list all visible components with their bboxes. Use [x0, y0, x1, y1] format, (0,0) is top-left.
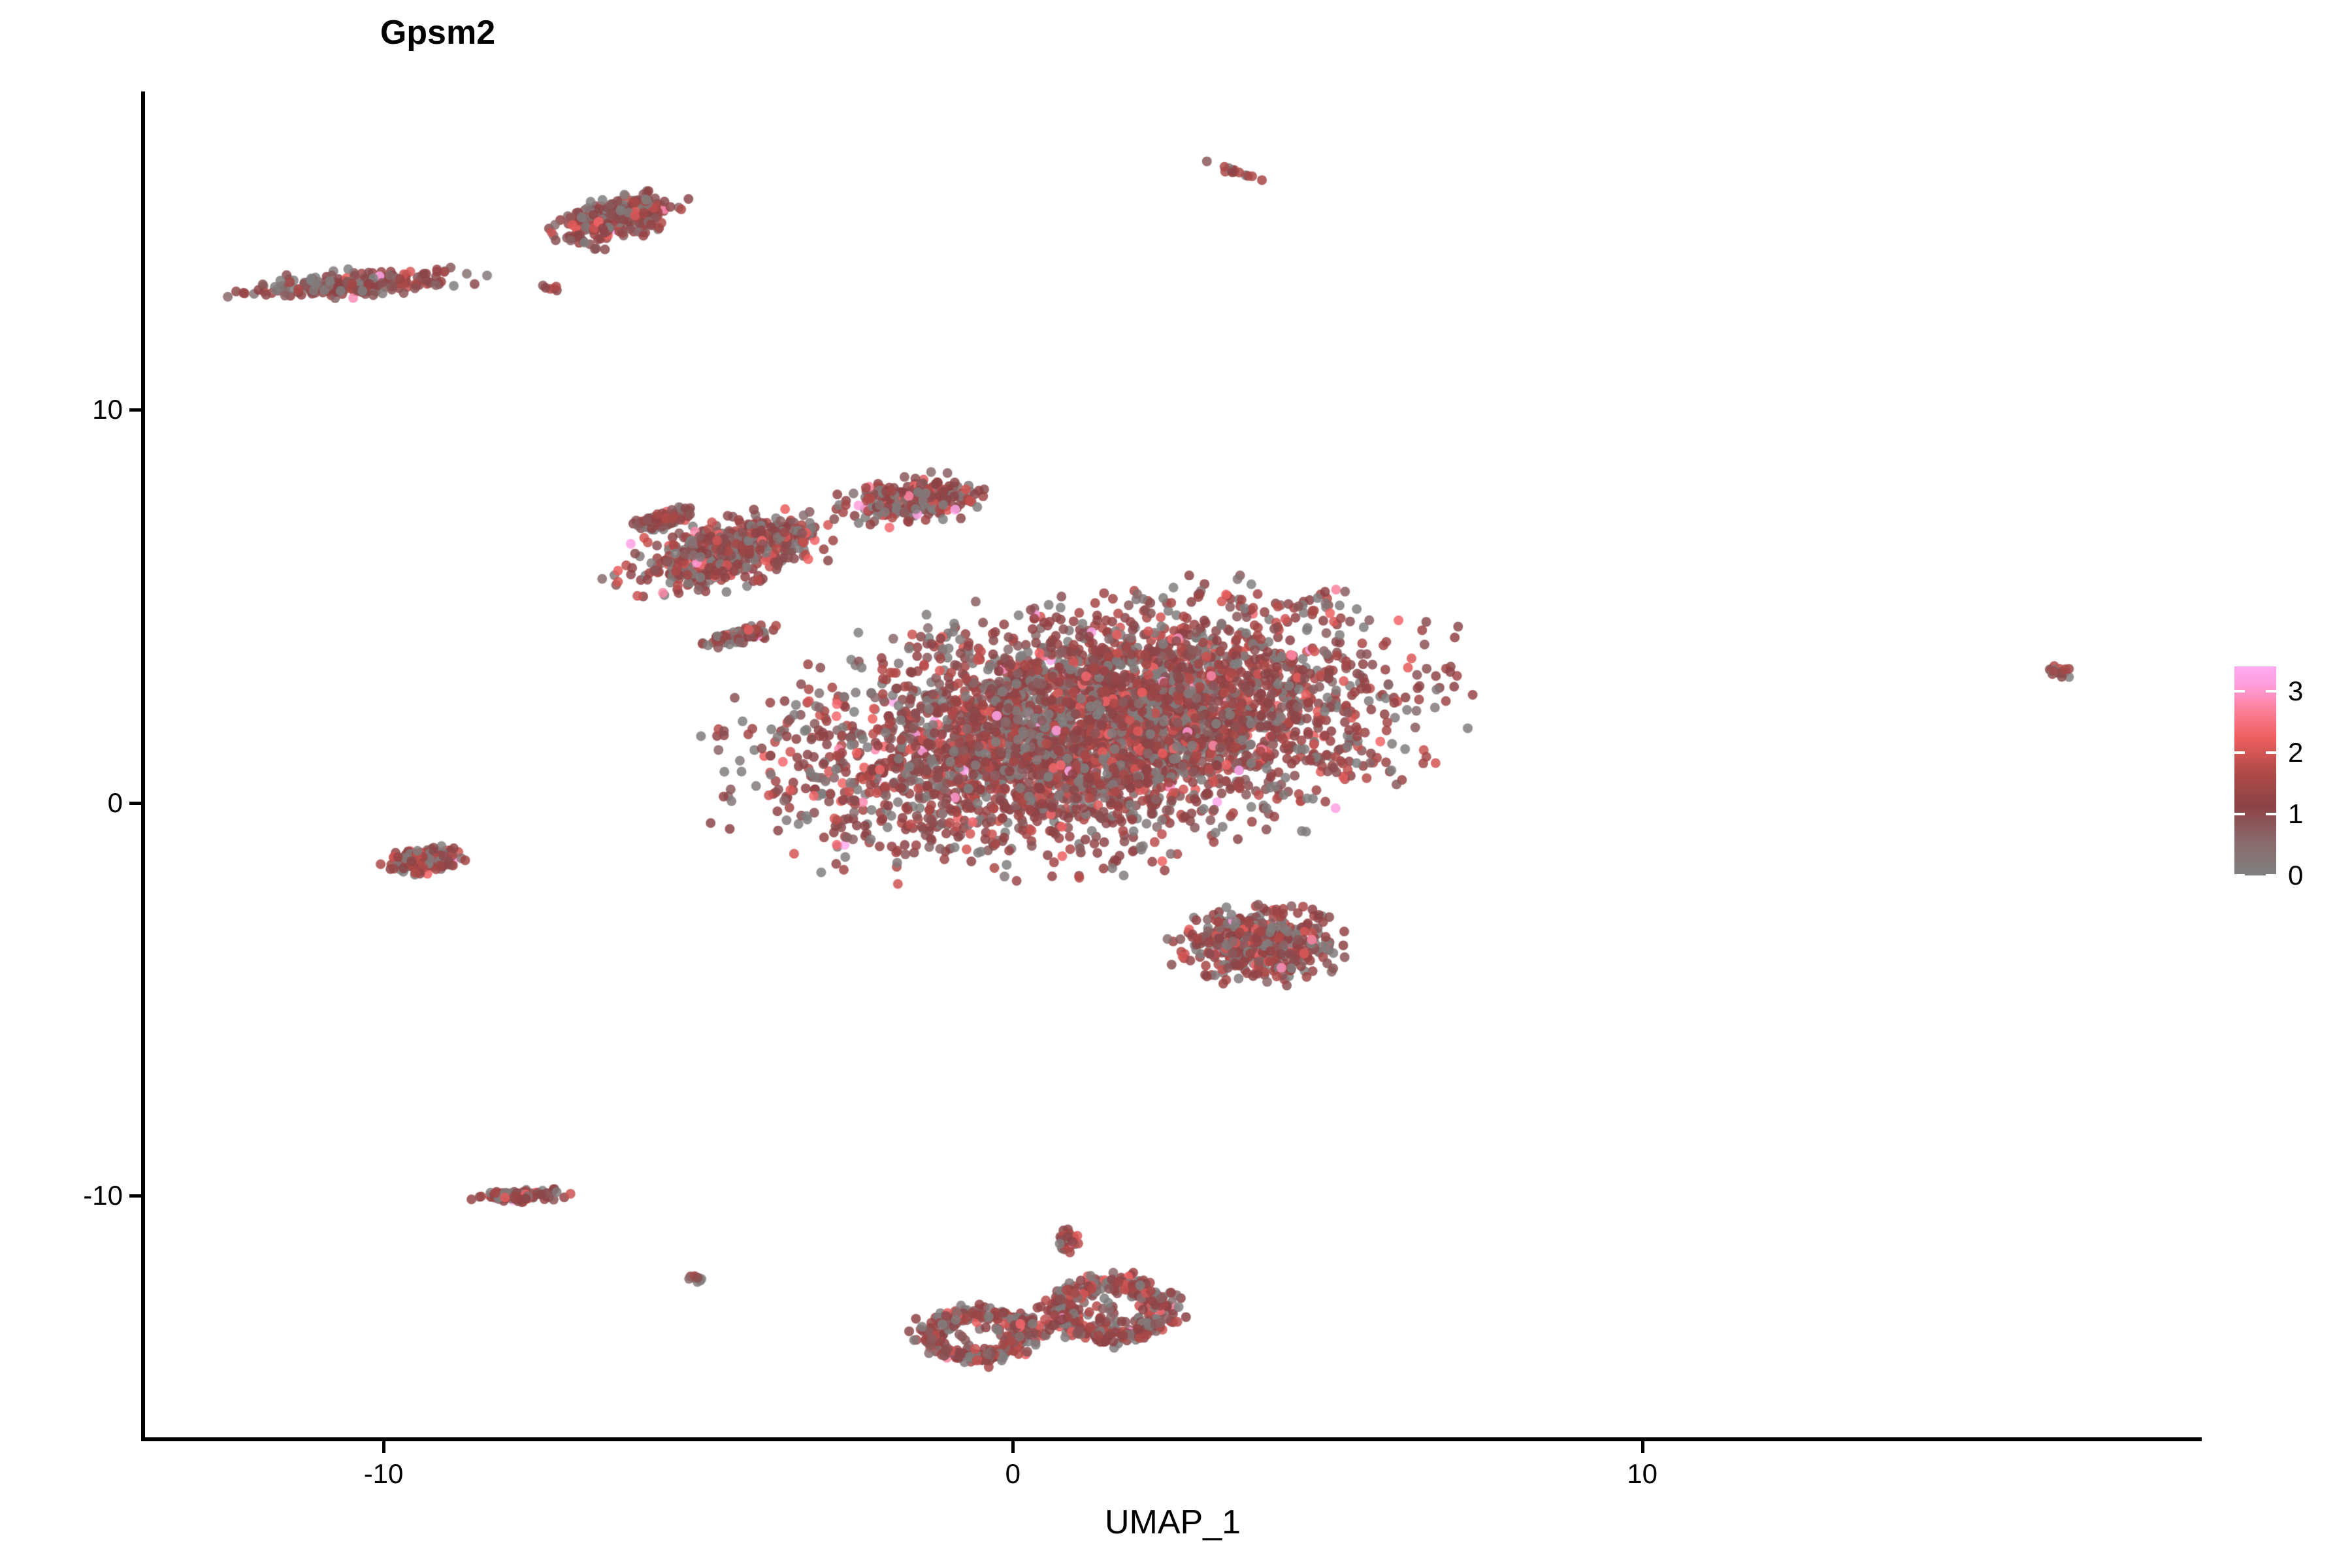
x-tick-label: 0: [1005, 1458, 1021, 1490]
x-tick-label: 10: [1627, 1458, 1658, 1490]
colorbar-tick-label: 0: [2288, 860, 2303, 891]
y-tick-label: -10: [0, 1180, 123, 1211]
colorbar-tick-label: 2: [2288, 737, 2303, 768]
x-tick-label: -10: [364, 1458, 404, 1490]
y-tick-mark: [129, 408, 141, 412]
colorbar-tick-mark: [2234, 690, 2276, 693]
page-title: Gpsm2: [0, 13, 1614, 52]
y-tick-label: 10: [0, 394, 123, 425]
y-axis-line: [141, 91, 145, 1441]
y-tick-mark: [129, 1194, 141, 1198]
x-axis-title: UMAP_1: [1105, 1503, 1241, 1542]
x-tick-mark: [1011, 1441, 1015, 1453]
x-axis-line: [141, 1437, 2202, 1441]
colorbar-tick-label: 1: [2288, 798, 2303, 830]
y-tick-mark: [129, 802, 141, 805]
umap-feature-plot: Gpsm2 100-10 -10010 UMAP_2 UMAP_1 3210: [0, 0, 2352, 1568]
plot-panel: [144, 91, 2202, 1439]
colorbar-tick-mark: [2234, 874, 2276, 877]
x-tick-mark: [1641, 1441, 1644, 1453]
scatter-points-canvas: [144, 91, 2202, 1439]
color-legend: 3210: [2234, 666, 2332, 889]
colorbar-tick-mark: [2234, 751, 2276, 754]
y-tick-label: 0: [0, 787, 123, 819]
colorbar-tick-label: 3: [2288, 676, 2303, 707]
colorbar-gradient: [2234, 666, 2276, 875]
x-tick-mark: [382, 1441, 385, 1453]
colorbar-tick-mark: [2234, 813, 2276, 815]
